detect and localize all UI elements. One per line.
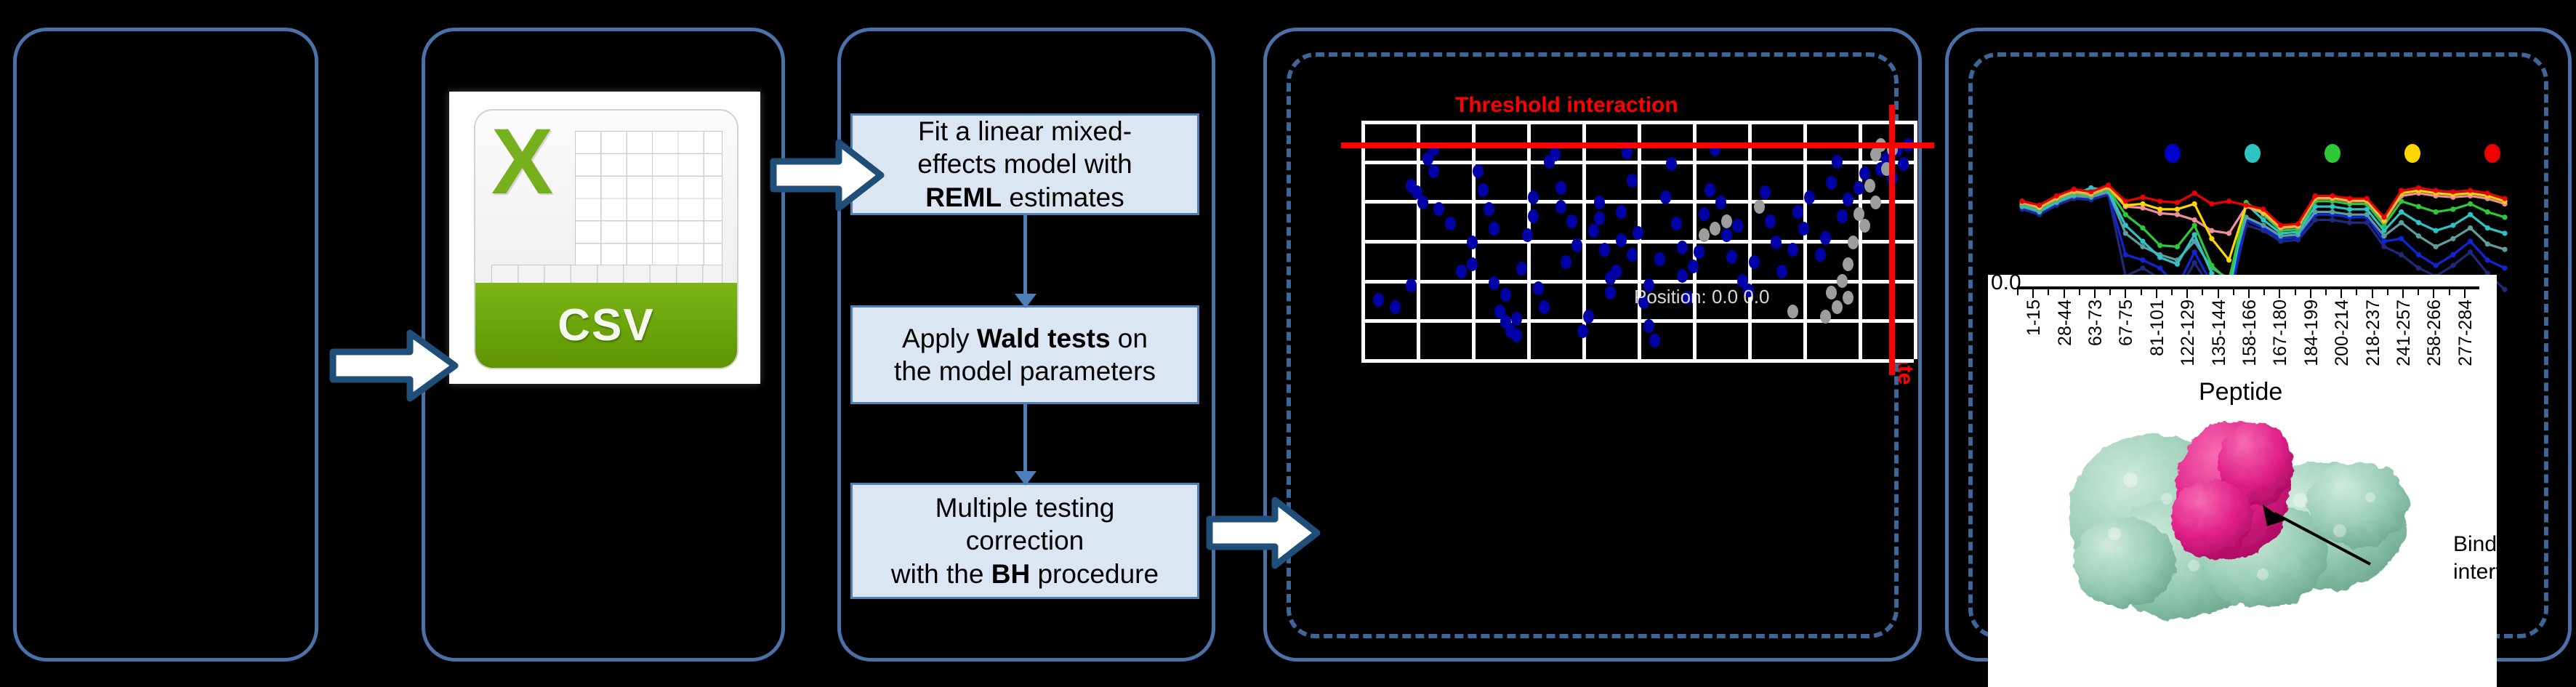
scatter-point xyxy=(1539,300,1550,314)
x-axis-tick xyxy=(2248,289,2250,298)
line-point xyxy=(2072,187,2077,192)
x-axis-tick xyxy=(2064,289,2065,298)
scatter-point xyxy=(1898,157,1909,171)
line-point xyxy=(2485,257,2490,262)
scatter-point xyxy=(1666,157,1677,171)
line-point xyxy=(2330,217,2335,222)
line-point xyxy=(2450,263,2455,268)
line-point xyxy=(2450,206,2455,212)
peptide-tick-label: 218-237 xyxy=(2363,300,2384,366)
reml-emphasis: REML xyxy=(925,182,1002,212)
x-axis-minor-tick xyxy=(2449,289,2450,295)
y-axis-zero-label: 0.0 xyxy=(1991,275,2021,295)
line-point xyxy=(2175,244,2180,249)
csv-format-label: CSV xyxy=(558,300,654,351)
scatter-point xyxy=(1588,224,1599,238)
legend-dot xyxy=(2404,144,2420,163)
peptide-tick-label: 81-101 xyxy=(2147,300,2168,356)
scatter-point xyxy=(1760,185,1771,199)
scatter-point xyxy=(1721,228,1732,242)
line-point xyxy=(2175,212,2180,217)
scatter-point xyxy=(1688,260,1699,273)
line-point xyxy=(2347,212,2352,217)
grid-line-horizontal xyxy=(1361,200,1914,204)
line-point xyxy=(2399,209,2404,214)
x-axis-minor-tick xyxy=(2263,289,2265,295)
scatter-point xyxy=(1864,179,1875,193)
scatter-point xyxy=(1511,312,1522,326)
arrow-input-to-csv xyxy=(329,326,459,406)
line-point xyxy=(2313,193,2318,198)
scatter-point xyxy=(1749,255,1760,269)
scatter-point xyxy=(1611,265,1622,278)
scatter-point xyxy=(1832,155,1843,169)
line-point xyxy=(2450,222,2455,228)
bh-line-1: Multiple testing xyxy=(891,491,1159,524)
line-point xyxy=(2381,238,2386,244)
line-point xyxy=(2157,265,2162,270)
line-point xyxy=(2399,236,2404,241)
csv-format-band: CSV xyxy=(475,283,737,368)
threshold-interaction-label: Threshold interaction xyxy=(1455,93,1678,118)
peptide-tick-label: 277-284 xyxy=(2455,300,2476,366)
line-point xyxy=(2502,265,2507,270)
line-point xyxy=(2399,220,2404,225)
line-point xyxy=(2381,244,2386,249)
x-axis-tick xyxy=(2402,289,2404,298)
scatter-point xyxy=(1787,305,1798,318)
line-point xyxy=(2295,221,2301,226)
x-axis-minor-tick xyxy=(2171,289,2173,295)
x-axis-tick xyxy=(2032,289,2034,298)
line-point xyxy=(2330,204,2335,209)
x-axis-tick xyxy=(2156,289,2157,298)
line-point xyxy=(2192,232,2197,237)
line-point xyxy=(2434,209,2439,214)
scatter-point xyxy=(1533,281,1544,295)
spreadsheet-grid-icon xyxy=(575,131,723,266)
peptide-tick-label: 158-166 xyxy=(2239,300,2261,366)
peptide-tick-labels: 1-1528-4463-7367-7581-101122-129135-1441… xyxy=(2017,300,2479,372)
x-axis-tick xyxy=(2186,289,2188,298)
reml-line-1: Fit a linear mixed- xyxy=(917,115,1132,148)
line-point xyxy=(2450,252,2455,257)
line-point xyxy=(2106,182,2111,188)
scatter-point xyxy=(1843,257,1853,271)
line-point xyxy=(2502,230,2507,236)
scatter-point xyxy=(1478,183,1489,197)
line-point xyxy=(2502,214,2507,220)
line-point xyxy=(2123,198,2128,204)
line-point xyxy=(2123,252,2128,257)
peptide-tick-label: 1-15 xyxy=(2024,300,2045,336)
scatter-point xyxy=(1643,319,1654,333)
line-point xyxy=(2364,196,2370,201)
scatter-point xyxy=(1853,181,1864,195)
line-point xyxy=(2123,222,2128,228)
scatter-point xyxy=(1792,205,1803,219)
line-point xyxy=(2209,236,2214,241)
line-point xyxy=(2434,263,2439,268)
line-point xyxy=(2261,217,2266,222)
line-point xyxy=(2261,206,2266,212)
legend-dot xyxy=(2245,144,2261,163)
line-point xyxy=(2468,188,2473,193)
line-point xyxy=(2399,252,2404,257)
scatter-point xyxy=(1594,212,1605,225)
x-axis-minor-tick xyxy=(2079,289,2080,295)
scatter-point xyxy=(1848,236,1859,249)
x-axis-tick xyxy=(2094,289,2096,298)
line-point xyxy=(2019,198,2024,204)
line-point xyxy=(2347,220,2352,225)
x-axis-minor-tick xyxy=(2356,289,2357,295)
reml-line-3: REML estimates xyxy=(917,181,1132,214)
scatter-point xyxy=(1489,276,1500,290)
line-point xyxy=(2157,243,2162,248)
line-point xyxy=(2347,206,2352,212)
scatter-point xyxy=(1583,310,1594,324)
scatter-point xyxy=(1500,288,1511,302)
scatter-point xyxy=(1390,300,1401,314)
peptide-tick-label: 67-75 xyxy=(2116,300,2137,346)
line-point xyxy=(2123,230,2128,236)
line-point xyxy=(2485,241,2490,246)
line-point xyxy=(2140,201,2145,206)
line-point xyxy=(2175,206,2180,212)
wald-line-1: Apply Wald tests on xyxy=(894,322,1156,355)
line-point xyxy=(2381,214,2386,220)
scatter-overlay-text: Position: 0.0 0.0 xyxy=(1634,286,1769,308)
scatter-point xyxy=(1826,176,1837,190)
line-point xyxy=(2140,225,2145,230)
scatter-point xyxy=(1677,241,1688,254)
scatter-point xyxy=(1677,269,1688,283)
scatter-point xyxy=(1732,219,1743,233)
scatter-point xyxy=(1837,209,1848,223)
line-point xyxy=(2192,249,2197,254)
line-point xyxy=(2157,198,2162,204)
x-axis-ticks xyxy=(2017,289,2479,300)
scatter-point xyxy=(1843,193,1853,206)
scatter-point xyxy=(1473,164,1484,178)
line-point xyxy=(2054,193,2059,198)
x-axis-minor-tick xyxy=(2325,289,2327,295)
stage-input xyxy=(13,28,318,662)
line-point xyxy=(2381,233,2386,238)
grid-line-horizontal xyxy=(1361,280,1914,284)
line-point xyxy=(2485,190,2490,196)
scatter-point xyxy=(1484,202,1494,216)
line-point xyxy=(2192,190,2197,196)
line-point xyxy=(2468,225,2473,230)
scatter-point xyxy=(1456,265,1467,278)
excel-x-icon: X xyxy=(491,116,553,209)
scatter-point xyxy=(1870,196,1881,209)
scatter-point xyxy=(1710,222,1720,236)
scatter-point xyxy=(1832,300,1843,314)
csv-file-icon: X CSV xyxy=(449,92,760,384)
scatter-point xyxy=(1699,207,1710,221)
line-point xyxy=(2261,222,2266,228)
scatter-point xyxy=(1715,196,1726,209)
scatter-point xyxy=(1633,226,1643,240)
x-axis-minor-tick xyxy=(2233,289,2234,295)
line-point xyxy=(2330,209,2335,214)
threshold-scatter-chart: Threshold interaction Threshold state Po… xyxy=(1263,28,1922,662)
x-axis-minor-tick xyxy=(2387,289,2388,295)
x-axis-minor-tick xyxy=(2048,289,2049,295)
peptide-tick-label: 122-129 xyxy=(2178,300,2199,366)
line-point xyxy=(2140,195,2145,200)
binding-interface-callout: Binding interface xyxy=(2453,531,2497,585)
scatter-point xyxy=(1511,329,1522,342)
line-point xyxy=(2140,244,2145,249)
x-axis-minor-tick xyxy=(2109,289,2111,295)
scatter-point xyxy=(1660,190,1671,204)
peptide-tick-label: 184-199 xyxy=(2301,300,2322,366)
line-point xyxy=(2485,225,2490,230)
x-axis-minor-tick xyxy=(2202,289,2203,295)
scatter-point xyxy=(1406,278,1417,292)
line-point xyxy=(2434,188,2439,193)
grid-line-vertical xyxy=(1914,121,1917,359)
line-point xyxy=(2226,198,2231,204)
line-point xyxy=(2140,265,2145,270)
scatter-point xyxy=(1798,222,1809,236)
x-axis-minor-tick xyxy=(2418,289,2419,295)
line-point xyxy=(2416,185,2421,190)
scatter-point xyxy=(1859,219,1870,233)
x-axis-minor-tick xyxy=(2295,289,2296,295)
reml-line-3-tail: estimates xyxy=(1002,182,1124,212)
line-point xyxy=(2468,212,2473,217)
scatter-point xyxy=(1599,243,1610,257)
scatter-point xyxy=(1561,255,1571,269)
scatter-point xyxy=(1528,190,1539,204)
line-point xyxy=(2123,212,2128,217)
connector-arrow-wald-to-bh xyxy=(1015,471,1037,486)
scatter-point xyxy=(1373,293,1384,307)
line-point xyxy=(2399,188,2404,193)
scatter-point xyxy=(1787,243,1798,257)
line-point xyxy=(2485,209,2490,214)
scatter-point xyxy=(1616,205,1627,219)
scatter-point xyxy=(1704,183,1715,197)
scatter-point xyxy=(1467,236,1478,249)
scatter-point xyxy=(1445,217,1456,230)
line-point xyxy=(2192,201,2197,206)
scatter-point xyxy=(1467,257,1478,271)
line-point xyxy=(2502,196,2507,201)
line-point xyxy=(2226,257,2231,262)
line-point xyxy=(2278,222,2283,228)
scatter-point xyxy=(1649,334,1660,347)
line-point xyxy=(2037,203,2042,208)
x-axis-tick xyxy=(2310,289,2311,298)
line-series xyxy=(2022,189,2505,281)
line-point xyxy=(2330,193,2335,198)
bh-box[interactable]: Multiple testing correction with the BH … xyxy=(850,483,1199,599)
line-point xyxy=(2244,203,2249,208)
x-axis-minor-tick xyxy=(2141,289,2142,295)
grid-line-horizontal xyxy=(1361,319,1914,323)
connector-reml-to-wald xyxy=(1023,215,1027,297)
binding-callout-line-1: Binding xyxy=(2453,531,2497,558)
binding-callout-line-2: interface xyxy=(2453,558,2497,586)
connector-arrow-reml-to-wald xyxy=(1015,294,1037,308)
peptide-tick-label: 241-257 xyxy=(2394,300,2415,366)
scatter-point xyxy=(1428,164,1439,178)
legend-dot xyxy=(2165,144,2181,163)
reml-line-2: effects model with xyxy=(917,148,1132,180)
scatter-point xyxy=(1516,262,1527,276)
arrow-model-to-scatter xyxy=(1205,493,1321,573)
line-point xyxy=(2175,262,2180,267)
line-point xyxy=(2502,246,2507,252)
line-point xyxy=(2192,260,2197,265)
line-point xyxy=(2381,228,2386,233)
line-point xyxy=(2416,204,2421,209)
line-point xyxy=(2157,206,2162,212)
csv-badge: X CSV xyxy=(474,109,738,369)
peptide-tick-label: 258-266 xyxy=(2424,300,2445,366)
scatter-point xyxy=(1754,200,1765,214)
x-axis-title: Peptide xyxy=(2199,378,2282,406)
x-axis-tick xyxy=(2372,289,2373,298)
reml-box[interactable]: Fit a linear mixed- effects model with R… xyxy=(850,113,1199,215)
scatter-point xyxy=(1594,196,1605,209)
grid-line-horizontal xyxy=(1361,240,1914,244)
scatter-point xyxy=(1417,196,1428,209)
line-point xyxy=(2434,244,2439,249)
scatter-point xyxy=(1577,324,1588,338)
scatter-point xyxy=(1433,202,1444,216)
line-point xyxy=(2416,233,2421,238)
scatter-point xyxy=(1726,250,1737,264)
scatter-point xyxy=(1671,217,1682,230)
x-axis-tick xyxy=(2464,289,2466,298)
scatter-point xyxy=(1627,174,1638,188)
scatter-point xyxy=(1528,209,1539,223)
wald-emphasis: Wald tests xyxy=(977,324,1111,353)
grid-line-horizontal xyxy=(1361,161,1914,164)
legend-dot xyxy=(2325,144,2340,163)
x-axis-tick xyxy=(2340,289,2342,298)
bh-line-3-head: with the xyxy=(891,559,991,589)
line-point xyxy=(2347,196,2352,201)
bh-line-3: with the BH procedure xyxy=(891,558,1159,590)
peptide-tick-label: 167-180 xyxy=(2270,300,2291,366)
protein-surface-icon xyxy=(2045,410,2452,628)
bh-line-2: correction xyxy=(891,524,1159,557)
scatter-point xyxy=(1550,148,1561,161)
wald-line-2: the model parameters xyxy=(894,355,1156,387)
line-point xyxy=(2088,189,2093,194)
scatter-point xyxy=(1771,236,1782,249)
wald-box[interactable]: Apply Wald tests on the model parameters xyxy=(850,305,1199,404)
line-point xyxy=(2192,217,2197,222)
connector-wald-to-bh xyxy=(1023,404,1027,474)
scatter-point xyxy=(1694,245,1704,259)
scatter-point xyxy=(1826,286,1837,300)
arrow-csv-to-model xyxy=(769,135,885,215)
line-point xyxy=(2468,249,2473,254)
threshold-state-line xyxy=(1889,105,1895,375)
x-axis-tick xyxy=(2218,289,2219,298)
line-point xyxy=(2416,220,2421,225)
scatter-point xyxy=(1721,214,1732,228)
threshold-interaction-line xyxy=(1341,142,1934,148)
peptide-tick-label: 63-73 xyxy=(2085,300,2106,346)
wald-line-1-tail: on xyxy=(1111,324,1148,353)
line-series xyxy=(2022,192,2505,279)
scatter-point xyxy=(1616,233,1627,247)
scatter-point xyxy=(1654,252,1665,266)
line-point xyxy=(2416,265,2421,270)
line-point xyxy=(2450,236,2455,241)
line-point xyxy=(2434,228,2439,233)
scatter-point xyxy=(1837,274,1848,288)
peptide-tick-label: 200-214 xyxy=(2332,300,2353,366)
scatter-point xyxy=(1765,214,1776,228)
x-axis-tick xyxy=(2125,289,2126,298)
scatter-point xyxy=(1776,265,1787,278)
scatter-point xyxy=(1605,286,1616,300)
line-point xyxy=(2175,200,2180,205)
grid-line-horizontal xyxy=(1361,121,1914,124)
scatter-point xyxy=(1489,222,1500,236)
wald-line-1-head: Apply xyxy=(902,324,977,353)
scatter-point xyxy=(1555,181,1566,195)
scatter-point xyxy=(1627,248,1638,262)
legend-dot xyxy=(2484,144,2500,163)
scatter-point xyxy=(1571,238,1582,252)
line-point xyxy=(2192,222,2197,228)
peptide-axis-and-structure-card: 0.0 1-1528-4463-7367-7581-101122-129135-… xyxy=(1988,275,2497,687)
bh-emphasis: BH xyxy=(991,559,1030,589)
scatter-point xyxy=(1804,190,1815,204)
line-point xyxy=(2209,263,2214,268)
line-point xyxy=(2450,189,2455,194)
line-point xyxy=(2226,230,2231,236)
x-axis-tick xyxy=(2279,289,2280,298)
scatter-point xyxy=(1843,291,1853,305)
line-point xyxy=(2468,238,2473,244)
line-point xyxy=(2468,201,2473,206)
scatter-plot-area xyxy=(1361,121,1914,359)
line-point xyxy=(2416,252,2421,257)
scatter-point xyxy=(1555,200,1566,214)
line-point xyxy=(2157,254,2162,260)
line-point xyxy=(2502,287,2507,292)
peptide-tick-label: 28-44 xyxy=(2055,300,2076,346)
peptide-tick-label: 135-144 xyxy=(2209,300,2230,366)
line-point xyxy=(2209,201,2214,206)
grid-line-horizontal xyxy=(1361,359,1914,363)
bh-line-3-tail: procedure xyxy=(1030,559,1159,589)
peptide-profile-legend xyxy=(2152,138,2486,167)
line-point xyxy=(2140,238,2145,244)
scatter-point xyxy=(1566,214,1577,228)
line-point xyxy=(2140,257,2145,262)
scatter-point xyxy=(1815,248,1826,262)
x-axis-tick xyxy=(2433,289,2434,298)
